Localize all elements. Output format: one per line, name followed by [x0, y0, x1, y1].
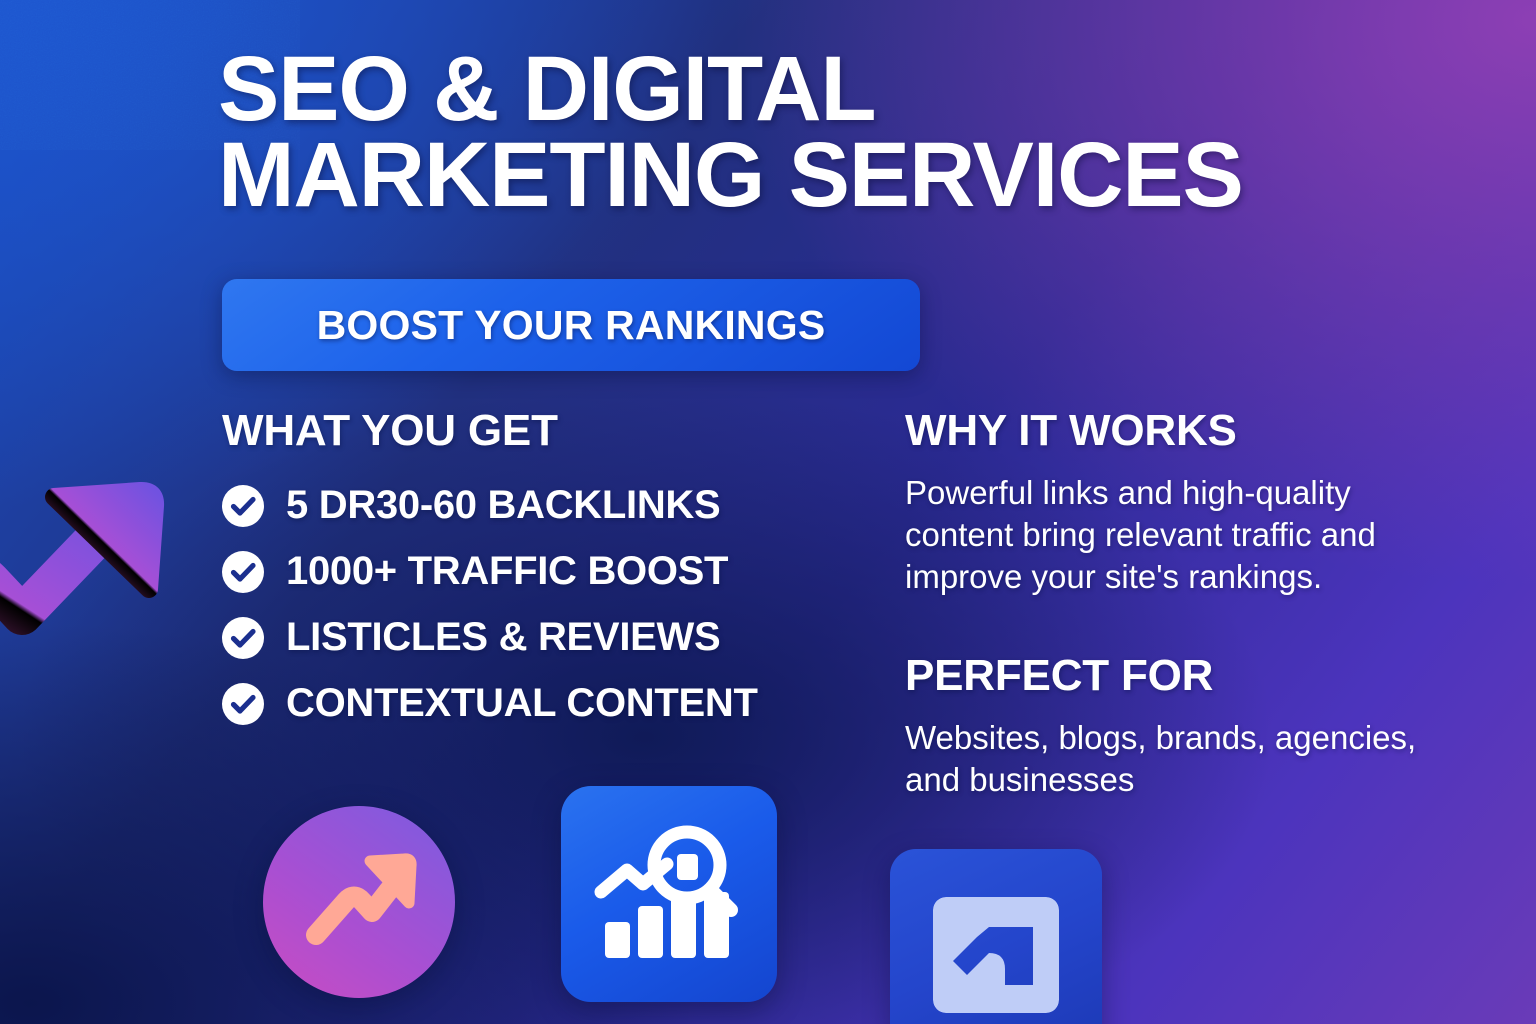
list-item-label: LISTICLES & REVIEWS [286, 615, 720, 660]
trending-up-arrow-icon [294, 837, 424, 967]
check-circle-icon [222, 617, 264, 659]
trending-up-arrow-icon [0, 455, 234, 685]
list-item-label: CONTEXTUAL CONTENT [286, 681, 758, 726]
perfect-for-body: Websites, blogs, brands, agencies, and b… [905, 717, 1425, 801]
external-link-icon [890, 849, 1102, 1024]
list-item: CONTEXTUAL CONTENT [222, 681, 862, 726]
list-item: 1000+ TRAFFIC BOOST [222, 549, 862, 594]
list-item-label: 1000+ TRAFFIC BOOST [286, 549, 728, 594]
boost-rankings-badge[interactable]: BOOST YOUR RANKINGS [222, 279, 920, 371]
why-it-works-heading: WHY IT WORKS [905, 406, 1425, 456]
what-you-get-heading: WHAT YOU GET [222, 406, 862, 456]
badge-label: BOOST YOUR RANKINGS [317, 302, 826, 349]
why-it-works-section: WHY IT WORKS Powerful links and high-qua… [905, 406, 1425, 801]
benefits-list: 5 DR30-60 BACKLINKS 1000+ TRAFFIC BOOST … [222, 483, 862, 726]
check-circle-icon [222, 683, 264, 725]
check-circle-icon [222, 551, 264, 593]
poster-canvas: SEO & DIGITAL MARKETING SERVICES BOOST Y… [0, 0, 1536, 1024]
list-item-label: 5 DR30-60 BACKLINKS [286, 483, 720, 528]
seo-analytics-icon [561, 786, 777, 1002]
list-item: LISTICLES & REVIEWS [222, 615, 862, 660]
page-title: SEO & DIGITAL MARKETING SERVICES [218, 46, 1398, 219]
why-it-works-body: Powerful links and high-quality content … [905, 472, 1425, 599]
section-spacer [905, 599, 1425, 651]
title-line-2: MARKETING SERVICES [218, 132, 1398, 218]
bar-chart-magnifier-icon [589, 814, 749, 974]
list-item: 5 DR30-60 BACKLINKS [222, 483, 862, 528]
check-circle-icon [222, 485, 264, 527]
trending-up-circle-icon [263, 806, 455, 998]
what-you-get-section: WHAT YOU GET 5 DR30-60 BACKLINKS 1000+ T… [222, 406, 862, 747]
perfect-for-heading: PERFECT FOR [905, 651, 1425, 701]
external-link-arrow-icon [933, 897, 1059, 1013]
